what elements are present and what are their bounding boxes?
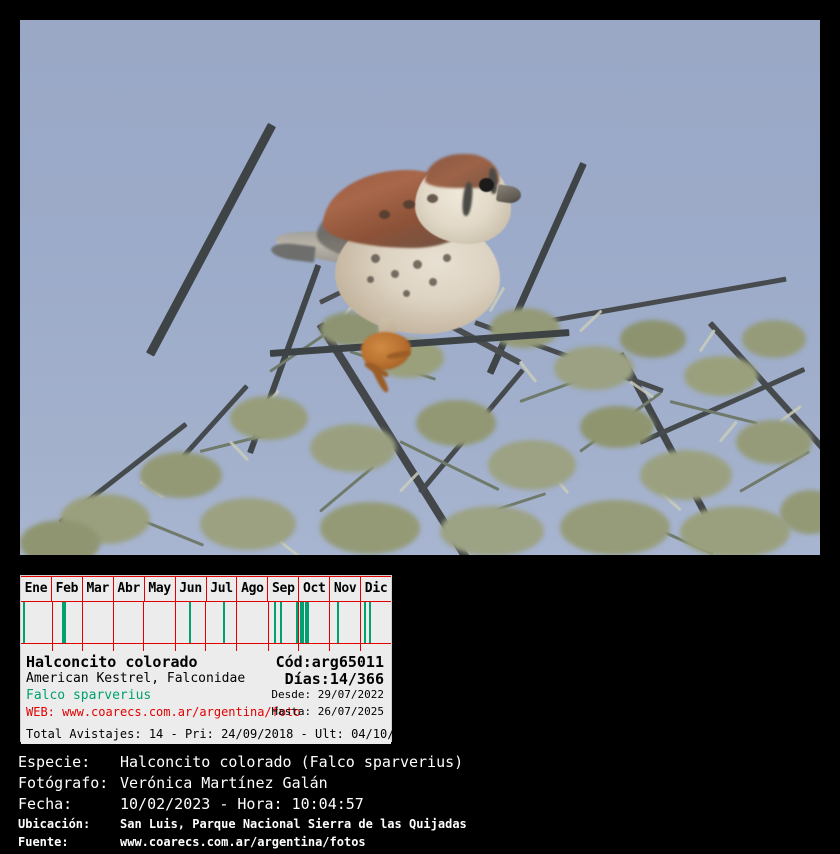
ubicacion-value: San Luis, Parque Nacional Sierra de las …	[120, 815, 467, 833]
calendar-month-separator	[143, 644, 144, 651]
fotografo-value: Verónica Martínez Galán	[120, 773, 328, 794]
hasta-text: Hasta: 26/07/2025	[271, 704, 384, 720]
fuente-label: Fuente:	[18, 833, 69, 851]
species-info-block: Halconcito colorado Cód:arg65011 America…	[21, 651, 391, 744]
days-text: Días:14/366	[285, 670, 384, 688]
fecha-label: Fecha:	[18, 794, 72, 815]
calendar-month-ago: Ago	[237, 577, 268, 601]
calendar-month-separator	[360, 602, 361, 643]
calendar-month-separator	[268, 602, 269, 643]
hasta-value: 26/07/2025	[318, 705, 384, 718]
calendar-month-separator	[360, 644, 361, 651]
bird-beak	[496, 184, 522, 205]
hasta-label: Hasta:	[271, 705, 311, 718]
calendar-month-separator	[298, 644, 299, 651]
calendar-month-separator	[205, 644, 206, 651]
calendar-month-separator	[175, 602, 176, 643]
calendar-month-separator	[82, 602, 83, 643]
meta-row-fotografo: Fotógrafo: Verónica Martínez Galán	[18, 773, 818, 794]
desde-value: 29/07/2022	[318, 688, 384, 701]
english-name-text: American Kestrel, Falconidae	[26, 670, 245, 687]
calendar-month-separator	[236, 644, 237, 651]
calendar-sighting-tick	[302, 602, 304, 643]
ubicacion-label: Ubicación:	[18, 815, 90, 833]
calendar-sighting-tick	[280, 602, 282, 643]
total-sightings-text: Total Avistajes: 14 - Pri: 24/09/2018 - …	[26, 727, 423, 742]
calendar-sighting-tick	[23, 602, 25, 643]
photo-metadata-block: Especie: Halconcito colorado (Falco spar…	[18, 752, 818, 851]
calendar-sighting-tick	[296, 602, 298, 643]
web-url: www.coarecs.com.ar/argentina/foto	[62, 705, 300, 719]
calendar-month-separator	[52, 602, 53, 643]
calendar-sighting-tick	[337, 602, 339, 643]
sightings-calendar-panel: EneFebMarAbrMayJunJulAgoSepOctNovDic Hal…	[20, 575, 392, 742]
calendar-month-oct: Oct	[299, 577, 330, 601]
calendar-sighting-tick	[64, 602, 66, 643]
calendar-footer-ticks	[21, 644, 391, 651]
fecha-value: 10/02/2023 - Hora: 10:04:57	[120, 794, 364, 815]
code-label: Cód:	[276, 653, 312, 671]
days-value: 14/366	[330, 670, 384, 688]
bird-eye	[479, 178, 494, 192]
calendar-month-separator	[82, 644, 83, 651]
calendar-month-separator	[175, 644, 176, 651]
calendar-month-separator	[52, 644, 53, 651]
days-label: Días:	[285, 670, 330, 688]
row-english-name: American Kestrel, Falconidae Días:14/366	[26, 670, 386, 687]
common-name-text: Halconcito colorado	[26, 653, 198, 671]
calendar-month-sep: Sep	[268, 577, 299, 601]
calendar-month-nov: Nov	[330, 577, 361, 601]
meta-row-fecha: Fecha: 10/02/2023 - Hora: 10:04:57	[18, 794, 818, 815]
bird-photograph	[20, 20, 820, 555]
calendar-month-mar: Mar	[83, 577, 114, 601]
calendar-month-separator	[113, 644, 114, 651]
calendar-sighting-tick	[189, 602, 191, 643]
calendar-month-feb: Feb	[52, 577, 83, 601]
calendar-month-separator	[329, 644, 330, 651]
calendar-month-separator	[298, 602, 299, 643]
calendar-month-separator	[143, 602, 144, 643]
calendar-month-separator	[329, 602, 330, 643]
calendar-month-may: May	[145, 577, 176, 601]
code-text: Cód:arg65011	[276, 653, 384, 671]
code-value: arg65011	[312, 653, 384, 671]
calendar-month-dic: Dic	[361, 577, 391, 601]
desde-label: Desde:	[271, 688, 311, 701]
calendar-month-ene: Ene	[21, 577, 52, 601]
calendar-month-separator	[268, 644, 269, 651]
row-web: WEB: www.coarecs.com.ar/argentina/foto H…	[26, 704, 386, 721]
calendar-sighting-tick	[364, 602, 366, 643]
calendar-month-jun: Jun	[176, 577, 207, 601]
row-common-name: Halconcito colorado Cód:arg65011	[26, 653, 386, 670]
especie-value: Halconcito colorado (Falco sparverius)	[120, 752, 463, 773]
calendar-month-separator	[205, 602, 206, 643]
meta-row-ubicacion: Ubicación: San Luis, Parque Nacional Sie…	[18, 815, 818, 833]
web-label: WEB:	[26, 705, 55, 719]
fuente-value[interactable]: www.coarecs.com.ar/argentina/fotos	[120, 833, 366, 851]
meta-row-especie: Especie: Halconcito colorado (Falco spar…	[18, 752, 818, 773]
calendar-month-jul: Jul	[207, 577, 238, 601]
meta-row-fuente: Fuente: www.coarecs.com.ar/argentina/fot…	[18, 833, 818, 851]
calendar-sighting-tick	[274, 602, 276, 643]
scientific-name-text: Falco sparverius	[26, 687, 151, 704]
calendar-sighting-tick	[223, 602, 225, 643]
calendar-sightings-track	[21, 602, 391, 644]
american-kestrel-bird	[275, 148, 535, 388]
desde-text: Desde: 29/07/2022	[271, 687, 384, 703]
row-scientific-name: Falco sparverius Desde: 29/07/2022	[26, 687, 386, 704]
fotografo-label: Fotógrafo:	[18, 773, 108, 794]
calendar-month-abr: Abr	[114, 577, 145, 601]
calendar-month-header: EneFebMarAbrMayJunJulAgoSepOctNovDic	[21, 576, 391, 602]
calendar-sighting-tick	[369, 602, 371, 643]
especie-label: Especie:	[18, 752, 90, 773]
calendar-month-separator	[113, 602, 114, 643]
calendar-sighting-tick	[307, 602, 309, 643]
web-link[interactable]: WEB: www.coarecs.com.ar/argentina/foto	[26, 704, 301, 720]
calendar-month-separator	[236, 602, 237, 643]
